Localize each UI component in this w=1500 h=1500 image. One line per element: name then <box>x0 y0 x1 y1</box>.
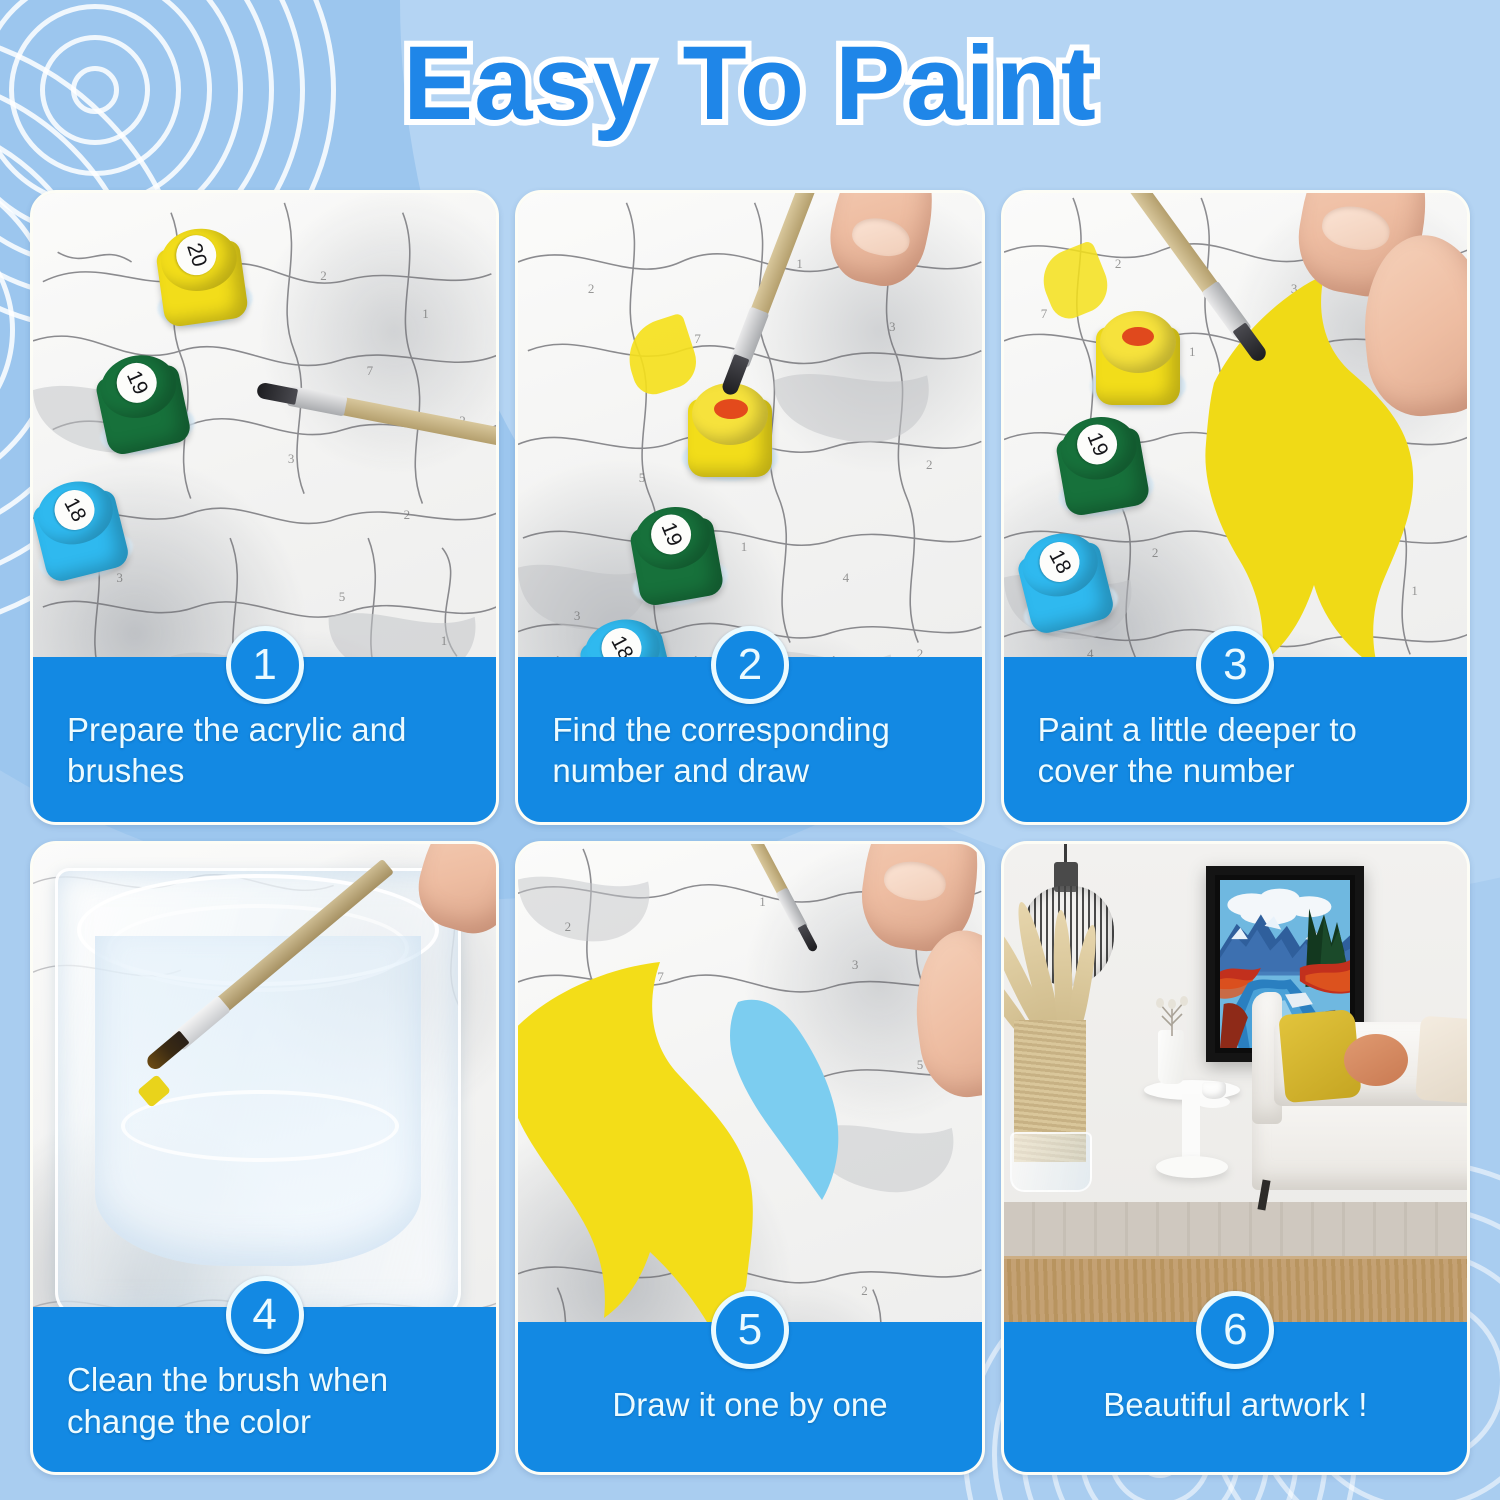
step-number-badge-6: 6 <box>1196 1291 1274 1369</box>
side-table-base <box>1156 1156 1228 1178</box>
step-card-3[interactable]: 72 13 52 21 47 32 19 18 <box>1001 190 1470 825</box>
lamp-cord <box>1064 844 1067 864</box>
step-card-4[interactable]: 4 Clean the brush when change the color <box>30 841 499 1476</box>
step-card-1[interactable]: 27 13 25 14 27 32 20 19 18 <box>30 190 499 825</box>
coffee-cup <box>1202 1082 1226 1099</box>
step-card-5[interactable]: 27 13 25 14 32 72 5 Draw it one by one <box>515 841 984 1476</box>
paint-pot-opening <box>1122 327 1154 346</box>
blue-painted-shape <box>718 988 898 1208</box>
dried-branch <box>1152 992 1192 1036</box>
step-number-badge-4: 4 <box>226 1276 304 1354</box>
white-vase <box>1158 1030 1184 1084</box>
step-card-6[interactable]: 6 Beautiful artwork ! <box>1001 841 1470 1476</box>
page-title: Easy To Paint <box>403 24 1097 144</box>
steps-grid: 27 13 25 14 27 32 20 19 18 <box>30 190 1470 1475</box>
step-number-badge-1: 1 <box>226 626 304 704</box>
pampas-grass-plant <box>1004 900 1126 1190</box>
step-number-badge-5: 5 <box>711 1291 789 1369</box>
pillow-cream <box>1415 1015 1467 1104</box>
pillow-terracotta <box>1344 1034 1408 1086</box>
water-line <box>121 1090 399 1162</box>
step-card-2[interactable]: 27 13 25 14 32 72 19 18 <box>515 190 984 825</box>
page-title-container: Easy To Paint <box>0 24 1500 144</box>
step-number-badge-2: 2 <box>711 626 789 704</box>
step-number-badge-3: 3 <box>1196 626 1274 704</box>
